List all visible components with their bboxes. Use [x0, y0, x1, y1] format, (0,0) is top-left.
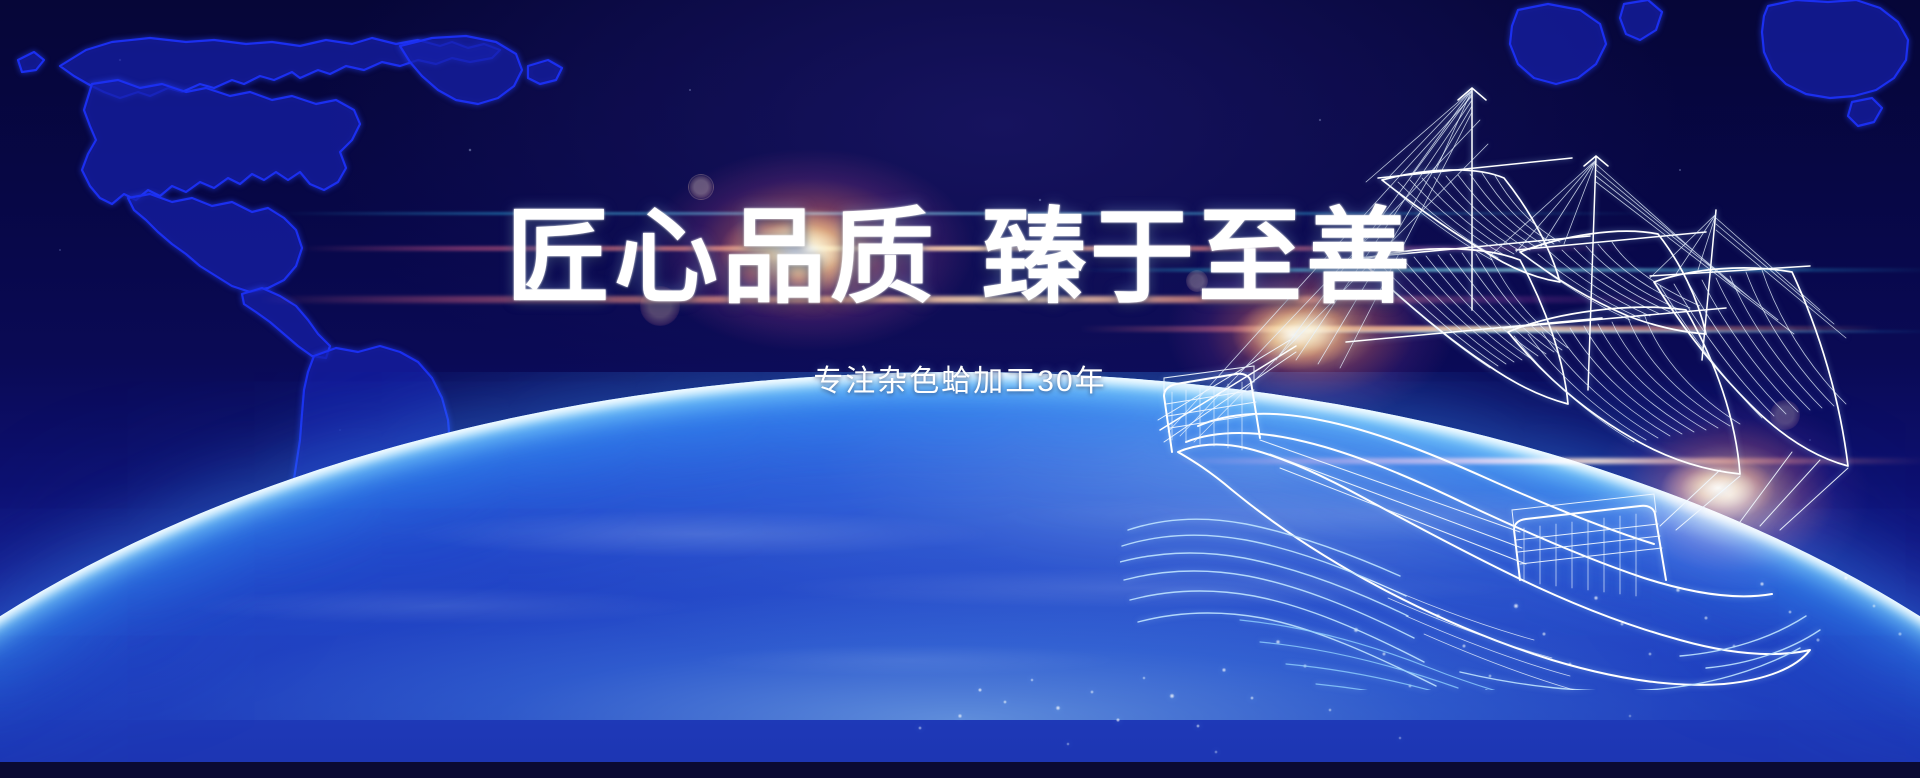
hero-banner: 匠心品质 臻于至善 专注杂色蛤加工30年 [0, 0, 1920, 778]
headline: 匠心品质 臻于至善 [0, 200, 1920, 316]
headline-part-2: 臻于至善 [982, 200, 1414, 316]
headline-part-1: 匠心品质 [506, 200, 938, 316]
bottom-band [0, 762, 1920, 778]
subtitle: 专注杂色蛤加工30年 [0, 356, 1920, 400]
